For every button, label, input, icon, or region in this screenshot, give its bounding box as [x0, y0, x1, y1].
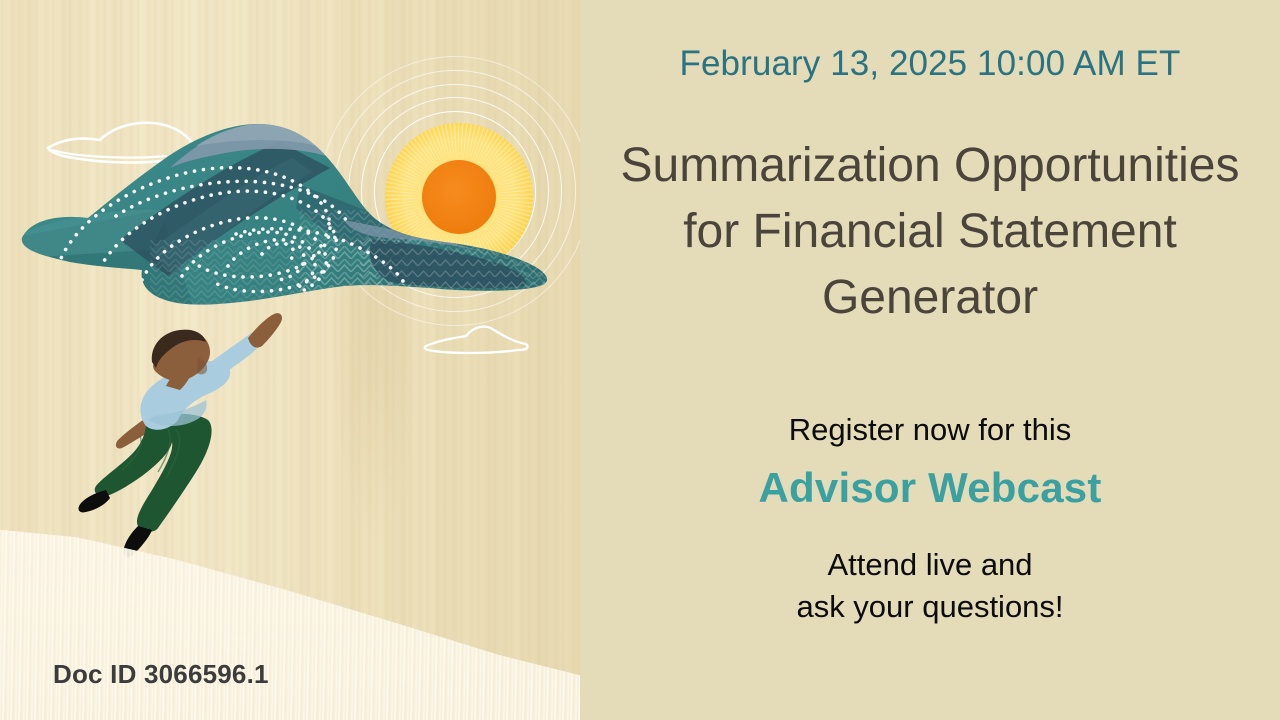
webcast-promo-slide: Doc ID 3066596.1 February 13, 2025 10:00…: [0, 0, 1280, 720]
doc-id-label: Doc ID 3066596.1: [53, 659, 269, 690]
person-figure: [79, 313, 283, 557]
attend-line-2: ask your questions!: [580, 586, 1280, 628]
page-title: Summarization Opportunities for Financia…: [610, 133, 1250, 330]
attend-note: Attend live and ask your questions!: [580, 544, 1280, 629]
flying-person-illustration: [70, 300, 300, 565]
text-panel: February 13, 2025 10:00 AM ET Summarizat…: [580, 0, 1280, 720]
title-line-2: for Financial Statement: [610, 199, 1250, 265]
title-line-3: Generator: [610, 265, 1250, 331]
register-prompt: Register now for this: [580, 412, 1280, 448]
artwork-panel: Doc ID 3066596.1: [0, 0, 580, 720]
advisor-webcast-heading: Advisor Webcast: [580, 464, 1280, 512]
floating-island-illustration: [0, 90, 580, 325]
title-line-1: Summarization Opportunities: [610, 133, 1250, 199]
webcast-date: February 13, 2025 10:00 AM ET: [580, 44, 1280, 84]
attend-line-1: Attend live and: [580, 544, 1280, 586]
